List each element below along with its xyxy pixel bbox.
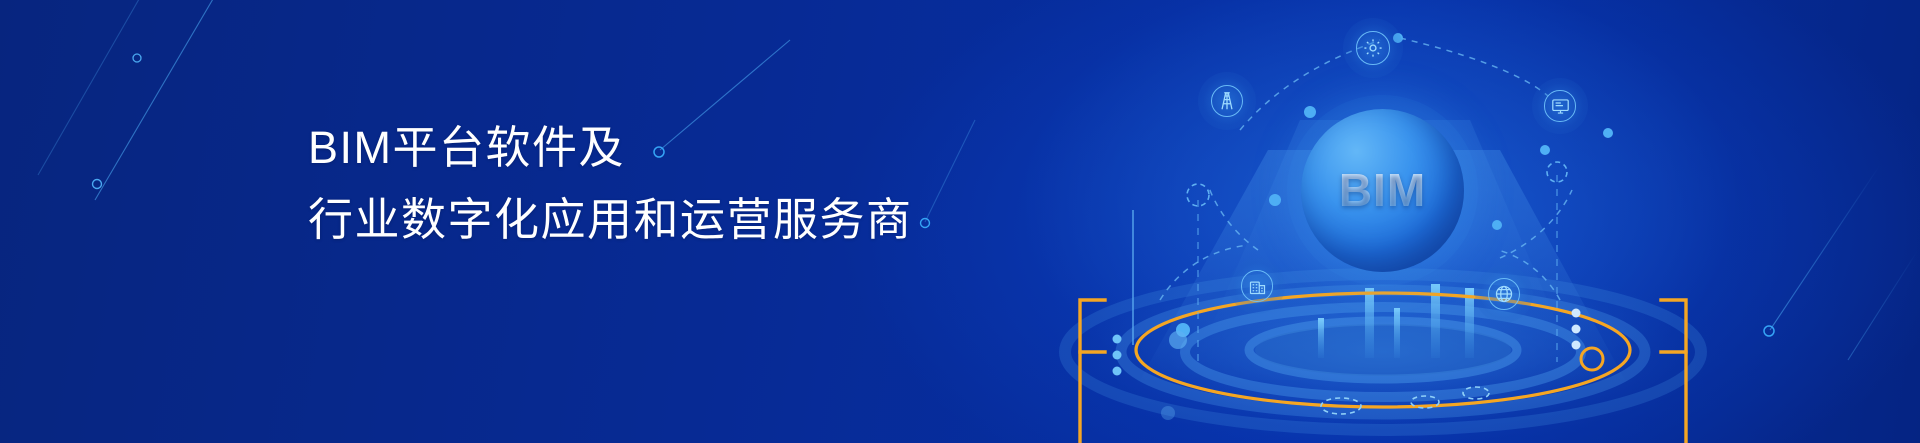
dot-cluster-right (1572, 309, 1581, 350)
platform-disc (1255, 324, 1511, 376)
bim-sphere: BIM (1301, 109, 1464, 272)
ring-marker-group (1321, 387, 1489, 414)
floating-accents (1161, 331, 1187, 420)
dot-cluster-left (1113, 335, 1122, 376)
accent-orbit-ring (1136, 293, 1630, 407)
data-bars (1318, 284, 1474, 358)
guide-node-top (1547, 162, 1567, 182)
bg-node-dot (133, 54, 141, 62)
network-icon[interactable] (1475, 265, 1533, 323)
bg-node-dot (921, 219, 930, 228)
diagonal-line-group-right (1770, 165, 1918, 360)
building-icon[interactable] (1229, 258, 1285, 314)
accent-ring-dot (1581, 348, 1603, 370)
headline-block: BIM平台软件及 行业数字化应用和运营服务商 (308, 112, 913, 256)
diagonal-line-group-left (38, 0, 285, 200)
bim-illustration (0, 0, 1920, 443)
bim-sphere-label: BIM (1339, 167, 1426, 213)
tower-icon[interactable] (1198, 72, 1256, 130)
headline-line-1: BIM平台软件及 (308, 112, 913, 184)
hero-banner: BIM平台软件及 行业数字化应用和运营服务商 (0, 0, 1920, 443)
guide-node-top (1187, 184, 1209, 206)
platform-rings (1065, 274, 1701, 430)
monitor-icon[interactable] (1532, 78, 1588, 134)
bg-node-dot (93, 180, 102, 189)
background-decoration (0, 0, 1920, 443)
bg-node-dot (1764, 326, 1774, 336)
gear-icon[interactable] (1343, 18, 1403, 78)
headline-line-2: 行业数字化应用和运营服务商 (308, 184, 913, 256)
platform-glow (1053, 260, 1713, 443)
bracket-frame (1080, 300, 1686, 443)
